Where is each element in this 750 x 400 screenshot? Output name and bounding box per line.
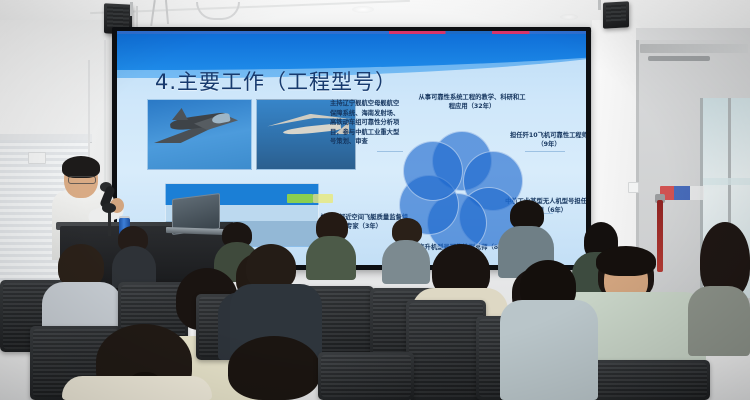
mic-stand [108, 210, 111, 236]
speaker-grill [606, 4, 626, 21]
fighter-jet-photo [147, 99, 252, 170]
chair[interactable] [406, 300, 486, 400]
presenter-hair [62, 156, 100, 178]
person-hair-top [596, 246, 656, 276]
yellow-highlight-box [313, 194, 333, 203]
presenter-glasses-icon [68, 176, 96, 184]
ceiling-light-icon [352, 6, 374, 13]
photo-scene: 4.主要工作（工程型号） 主持辽宁舰航空母舰航空保障系统、海南发射场、高铁动车组… [0, 0, 750, 400]
person-hair [228, 336, 320, 400]
door-header [640, 44, 748, 53]
person-torso [62, 376, 212, 400]
door-closer-arm [648, 56, 710, 61]
wall-plate-left[interactable] [28, 152, 46, 164]
chair-mesh [409, 303, 483, 397]
person-torso [688, 286, 750, 356]
door-glass-band [703, 178, 750, 185]
chair[interactable] [590, 360, 710, 400]
light-switch[interactable] [628, 182, 639, 193]
chair-mesh [321, 355, 411, 397]
connector-line-left [377, 151, 403, 152]
connector-line-right [525, 151, 565, 152]
ceiling-light-2-icon [560, 14, 578, 20]
speaker-grill [107, 6, 129, 27]
chair-mesh [593, 363, 707, 397]
desk-mic-head-icon [102, 203, 116, 213]
slide-title: 4.主要工作（工程型号） [155, 66, 575, 96]
fire-extinguisher-icon [657, 200, 663, 272]
jet-tail [172, 108, 188, 120]
chair[interactable] [318, 352, 414, 400]
corridor-wall-stripe [660, 186, 704, 200]
green-highlight-box [287, 194, 313, 203]
wall-speaker-right-icon [603, 1, 629, 28]
slide-text-left-paragraph: 主持辽宁舰航空母舰航空保障系统、海南发射场、高铁动车组可靠性分析项目，参与中航工… [330, 99, 402, 147]
person-torso [500, 300, 598, 400]
speaker-bracket-right [598, 0, 601, 10]
slide-text-top-center: 从事可靠性系统工程的教学、科研和工程应用（32年） [417, 93, 527, 111]
person-torso [382, 240, 430, 284]
speaker-bracket-left [130, 2, 133, 16]
venn-circle-6 [403, 141, 463, 201]
person-torso [306, 236, 356, 280]
